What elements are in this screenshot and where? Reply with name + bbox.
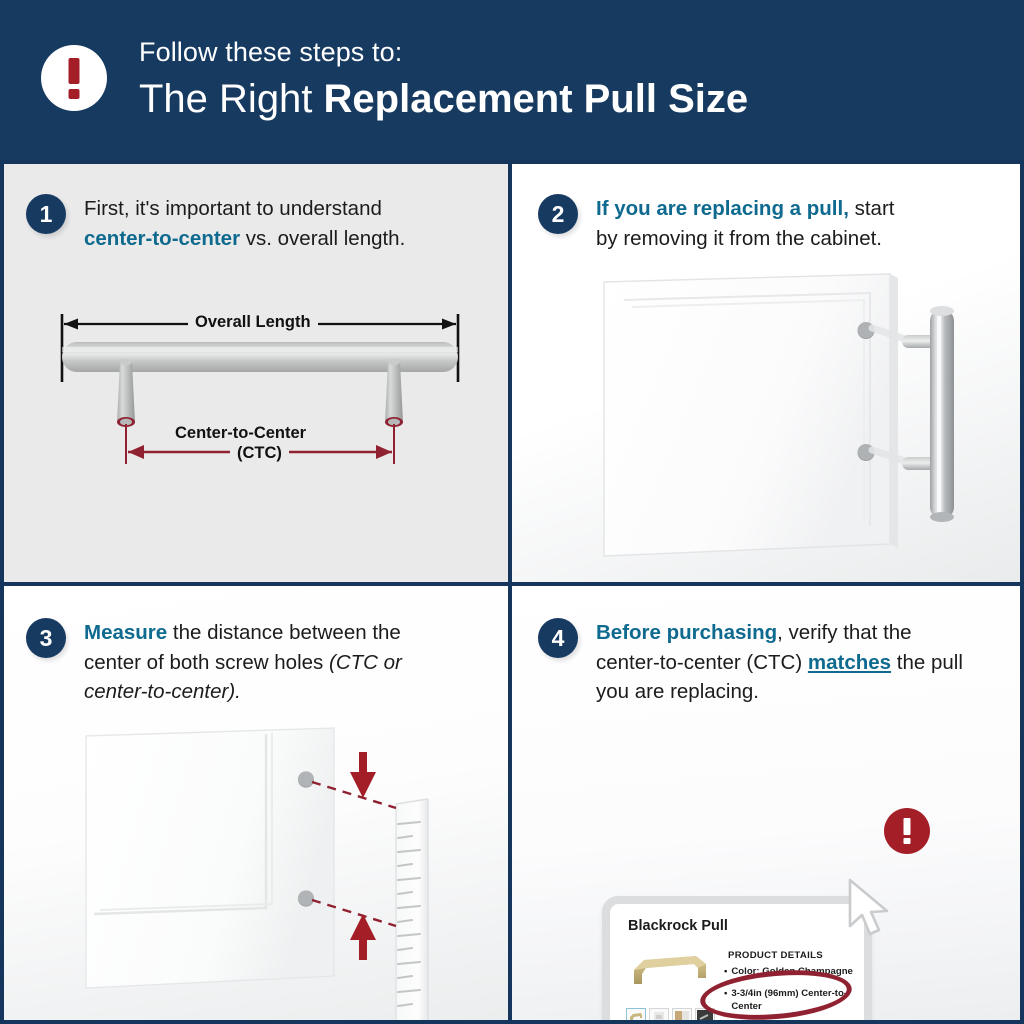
exclamation-icon [41,45,107,111]
page-title: The Right Replacement Pull Size [139,77,748,122]
header-eyebrow: Follow these steps to: [139,38,748,68]
header-text: Follow these steps to: The Right Replace… [139,38,748,121]
product-title: Blackrock Pull [628,918,728,934]
pull-dimension-diagram: Overall Length Center-to-Center (CTC) [50,304,470,469]
step-2-text: If you are replacing a pull, start by re… [596,194,916,253]
monitor-illustration: Blackrock Pull [602,896,872,1020]
product-image[interactable] [624,944,716,1000]
ctc-abbrev-label: (CTC) [230,444,289,463]
product-thumbnails [626,1008,715,1020]
step-1-text-b: center-to-center [84,227,240,250]
header-banner: Follow these steps to: The Right Replace… [0,0,1024,160]
step-2-header: 2 If you are replacing a pull, start by … [538,194,938,253]
matches-link[interactable]: matches [808,651,891,674]
step-panel-2: 2 If you are replacing a pull, start by … [512,164,1020,582]
mouse-pointer-icon [844,876,898,944]
bullet-dot: • [724,966,727,978]
step-3-text: Measure the distance between the center … [84,618,446,707]
title-light-part: The Right [139,77,324,121]
step-1-text-a: First, it's important to understand [84,197,382,220]
center-to-center-label: Center-to-Center [168,424,313,443]
product-details-heading: PRODUCT DETAILS [728,950,823,961]
exclamation-icon [884,808,930,854]
step-3-header: 3 Measure the distance between the cente… [26,618,446,707]
step-4-text-a: Before purchasing [596,621,777,644]
step-panel-1: 1 First, it's important to understand ce… [4,164,508,582]
step-number-badge-2: 2 [538,194,578,234]
step-2-text-a: If you are replacing a pull, [596,197,849,220]
step-number-badge-3: 3 [26,618,66,658]
thumbnail-3[interactable] [672,1008,692,1020]
step-number-badge-1: 1 [26,194,66,234]
thumbnail-2[interactable] [649,1008,669,1020]
step-1-text: First, it's important to understand cent… [84,194,446,253]
step-panel-4: 4 Before purchasing, verify that the cen… [512,586,1020,1020]
step-panel-3: 3 Measure the distance between the cente… [4,586,508,1020]
overall-length-label: Overall Length [188,313,318,332]
step-1-header: 1 First, it's important to understand ce… [26,194,446,253]
step-3-text-a: Measure [84,621,167,644]
step-number-badge-4: 4 [538,618,578,658]
infographic-page: Follow these steps to: The Right Replace… [0,0,1024,1024]
thumbnail-1[interactable] [626,1008,646,1020]
title-bold-part: Replacement Pull Size [324,77,749,121]
step-4-text: Before purchasing, verify that the cente… [596,618,966,707]
step-1-text-c: vs. overall length. [240,227,405,250]
steps-grid: 1 First, it's important to understand ce… [0,160,1024,1024]
step-4-header: 4 Before purchasing, verify that the cen… [538,618,988,707]
